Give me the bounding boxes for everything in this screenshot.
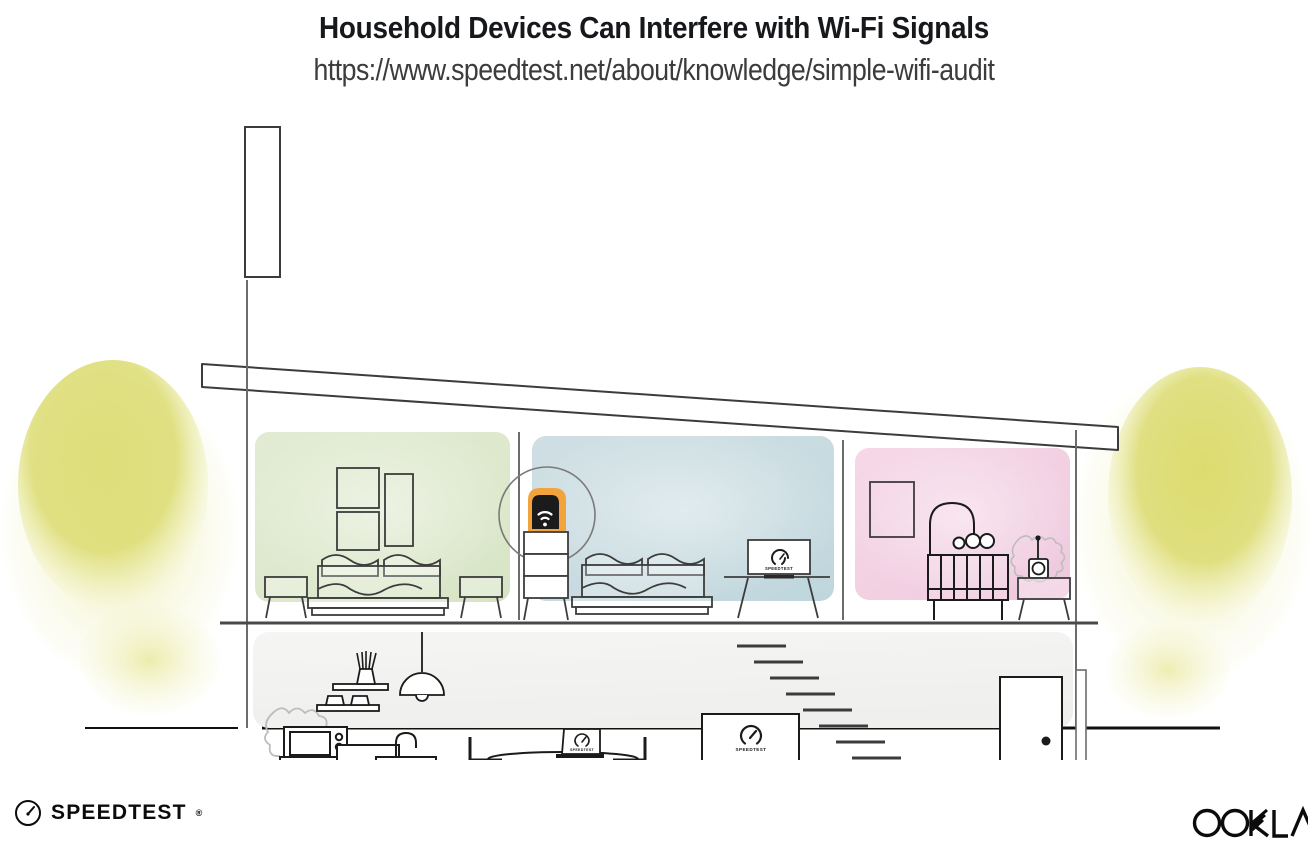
wifi-icon-dot <box>543 523 547 527</box>
source-url: https://www.speedtest.net/about/knowledg… <box>92 52 1217 88</box>
page-title: Household Devices Can Interfere with Wi-… <box>65 10 1242 46</box>
exterior-pillar <box>1076 670 1086 760</box>
speedtest-registered-mark: ® <box>196 808 203 818</box>
laptop-screen-label: SPEEDTEST <box>570 748 595 752</box>
ookla-logo: ® <box>1189 801 1308 846</box>
desk-monitor: SPEEDTEST <box>748 540 810 579</box>
laptop: SPEEDTEST <box>556 729 604 758</box>
speedtest-wordmark: SPEEDTEST <box>51 801 187 825</box>
nightstand-right <box>460 577 502 618</box>
router-shelf-unit <box>524 532 568 620</box>
tv-screen-label: SPEEDTEST <box>736 747 767 752</box>
room-bedroom-blue: SPEEDTEST <box>499 436 834 620</box>
room-open-plan-living: SPEEDTEST <box>253 632 1086 760</box>
room-bedroom-green <box>255 432 510 618</box>
front-door[interactable] <box>1000 677 1062 760</box>
room-nursery-pink <box>855 448 1070 620</box>
speedtest-gauge-icon <box>14 799 42 827</box>
footer: SPEEDTEST ® ® <box>0 791 1308 841</box>
door-knob-icon <box>1042 737 1051 746</box>
crib <box>928 555 1008 620</box>
chimney <box>245 127 280 277</box>
ookla-wordmark-icon: ® <box>1189 801 1308 841</box>
tv: SPEEDTEST <box>702 714 799 760</box>
header: Household Devices Can Interfere with Wi-… <box>0 0 1308 88</box>
house-cutaway-illustration: SPEEDTEST <box>0 100 1308 760</box>
monitor-screen-label: SPEEDTEST <box>765 566 793 571</box>
nightstand-nursery <box>1018 578 1070 620</box>
infographic-page: Household Devices Can Interfere with Wi-… <box>0 0 1308 861</box>
wifi-router[interactable] <box>528 488 566 531</box>
tree-left <box>2 360 238 715</box>
nightstand-left <box>265 577 307 618</box>
tree-right <box>1074 367 1308 718</box>
speedtest-logo: SPEEDTEST ® <box>14 799 202 827</box>
